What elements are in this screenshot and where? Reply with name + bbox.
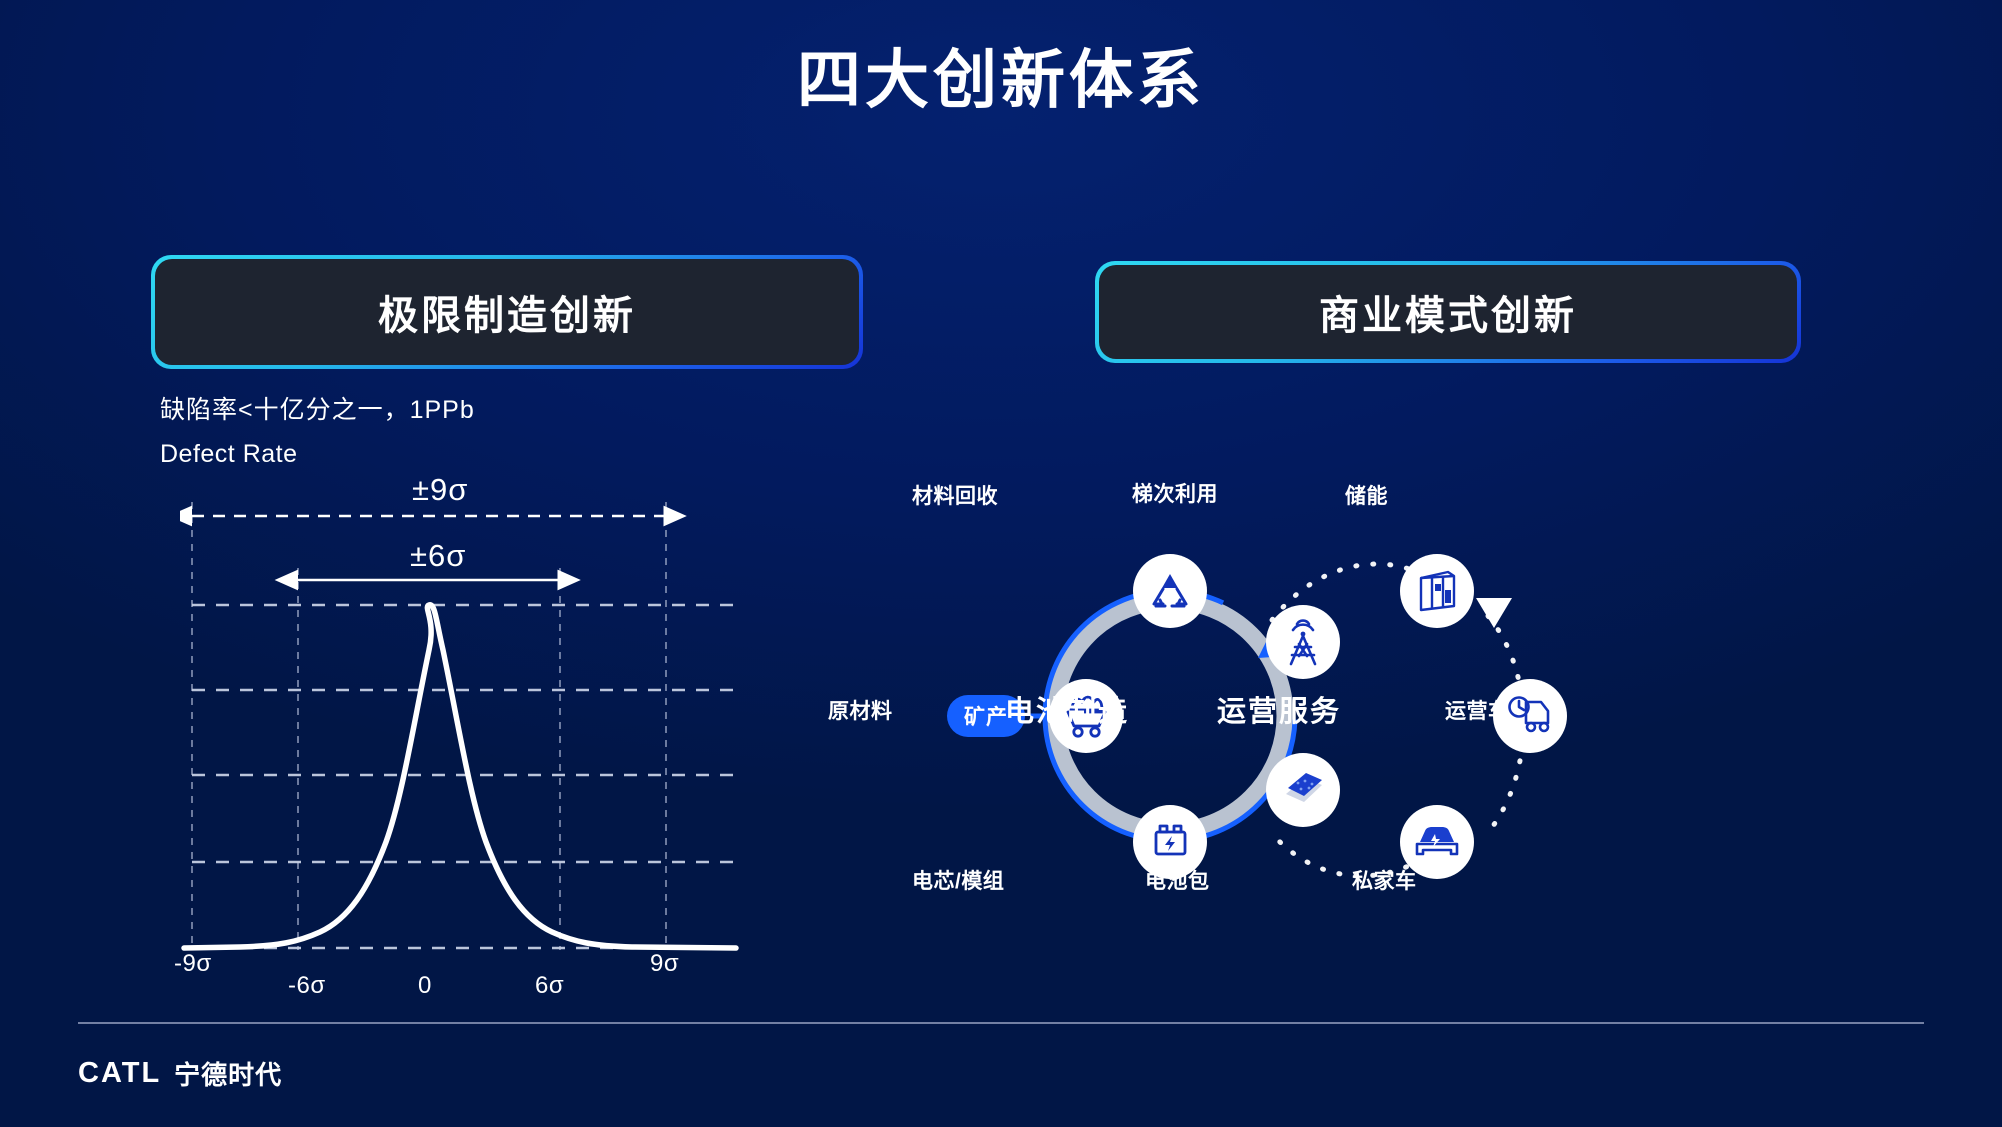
defect-rate-chart: ±9σ ±6σ -9σ -6σ 0 6σ 9σ — [180, 470, 840, 990]
node-label-recycle: 材料回收 — [912, 480, 998, 510]
defect-rate-en-text: Defect Rate — [160, 440, 298, 469]
panel-header-right-inner: 商业模式创新 — [1099, 265, 1797, 359]
page-title: 四大创新体系 — [0, 45, 2002, 115]
node-label-ladder-use: 梯次利用 — [1132, 478, 1218, 508]
node-circle-ladder — [1266, 605, 1340, 679]
business-model-diagram: 矿产 原材料 材料回收 梯次利用 电池包 电芯/模组 储能 运营车 私家车 电池… — [920, 520, 1980, 940]
panel-header-right-frame: 商业模式创新 — [1095, 261, 1801, 363]
node-label-energy-storage: 储能 — [1345, 480, 1388, 510]
diagram-svg — [920, 520, 1980, 940]
panel-header-right[interactable]: 商业模式创新 — [1092, 258, 1804, 366]
node-label-operating-vehicle: 运营车 — [1445, 695, 1510, 725]
chart-svg — [180, 470, 840, 990]
node-label-private-car: 私家车 — [1352, 865, 1417, 895]
catl-logo: CATL 宁德时代 — [78, 1055, 282, 1092]
panel-header-right-label: 商业模式创新 — [1319, 283, 1577, 341]
node-circle-recycle — [1133, 554, 1207, 628]
chart-annotation-9sigma: ±9σ — [412, 472, 468, 508]
chart-tick-zero: 0 — [418, 972, 432, 1000]
node-label-raw-material: 原材料 — [828, 695, 893, 725]
cycle-center-label: 电池制造 — [1005, 688, 1129, 730]
panel-header-left[interactable]: 极限制造创新 — [148, 252, 866, 372]
node-label-cell-module: 电芯/模组 — [912, 865, 1004, 895]
footer-divider — [78, 1022, 1924, 1024]
service-center-label: 运营服务 — [1217, 688, 1341, 730]
panel-header-left-label: 极限制造创新 — [378, 283, 636, 341]
chart-tick-plus6: 6σ — [535, 972, 564, 1000]
logo-latin-text: CATL — [78, 1057, 161, 1090]
defect-rate-cn-text: 缺陷率<十亿分之一，1PPb — [160, 390, 475, 426]
panel-header-left-inner: 极限制造创新 — [155, 259, 859, 365]
logo-chinese-text: 宁德时代 — [174, 1055, 282, 1092]
chart-tick-minus9: -9σ — [174, 950, 212, 978]
mineral-source-label: 矿产 — [964, 701, 1008, 731]
service-loop-arrowhead — [1476, 598, 1512, 628]
node-label-battery-pack: 电池包 — [1145, 865, 1210, 895]
bell-curve-line — [184, 605, 736, 948]
panel-header-left-frame: 极限制造创新 — [151, 255, 863, 369]
slide-root: 四大创新体系 极限制造创新 商业模式创新 缺陷率<十亿分之一，1PPb Defe… — [0, 0, 2002, 1127]
chart-tick-minus6: -6σ — [288, 972, 326, 1000]
chart-annotation-6sigma: ±6σ — [410, 538, 466, 574]
chart-tick-plus9: 9σ — [650, 950, 679, 978]
